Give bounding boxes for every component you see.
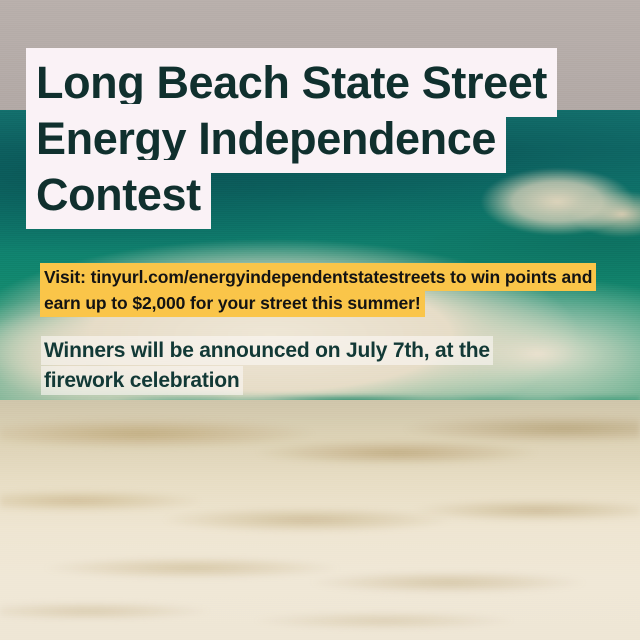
visit-line-2: earn up to $2,000 for your street this s… xyxy=(44,290,594,316)
title-line-3: Contest xyxy=(35,167,595,223)
visit-line-1: Visit: tinyurl.com/energyindependentstat… xyxy=(44,264,594,290)
title-line-1: Long Beach State Street xyxy=(35,55,595,111)
poster-content: Long Beach State Street Energy Independe… xyxy=(0,0,640,640)
poster-canvas: Long Beach State Street Energy Independe… xyxy=(0,0,640,640)
winners-announcement: Winners will be announced on July 7th, a… xyxy=(44,336,574,396)
visit-instructions: Visit: tinyurl.com/energyindependentstat… xyxy=(44,264,594,316)
winners-line-1: Winners will be announced on July 7th, a… xyxy=(44,336,574,366)
poster-title: Long Beach State Street Energy Independe… xyxy=(35,55,595,223)
title-line-2: Energy Independence xyxy=(35,111,595,167)
winners-line-2: firework celebration xyxy=(44,366,574,396)
